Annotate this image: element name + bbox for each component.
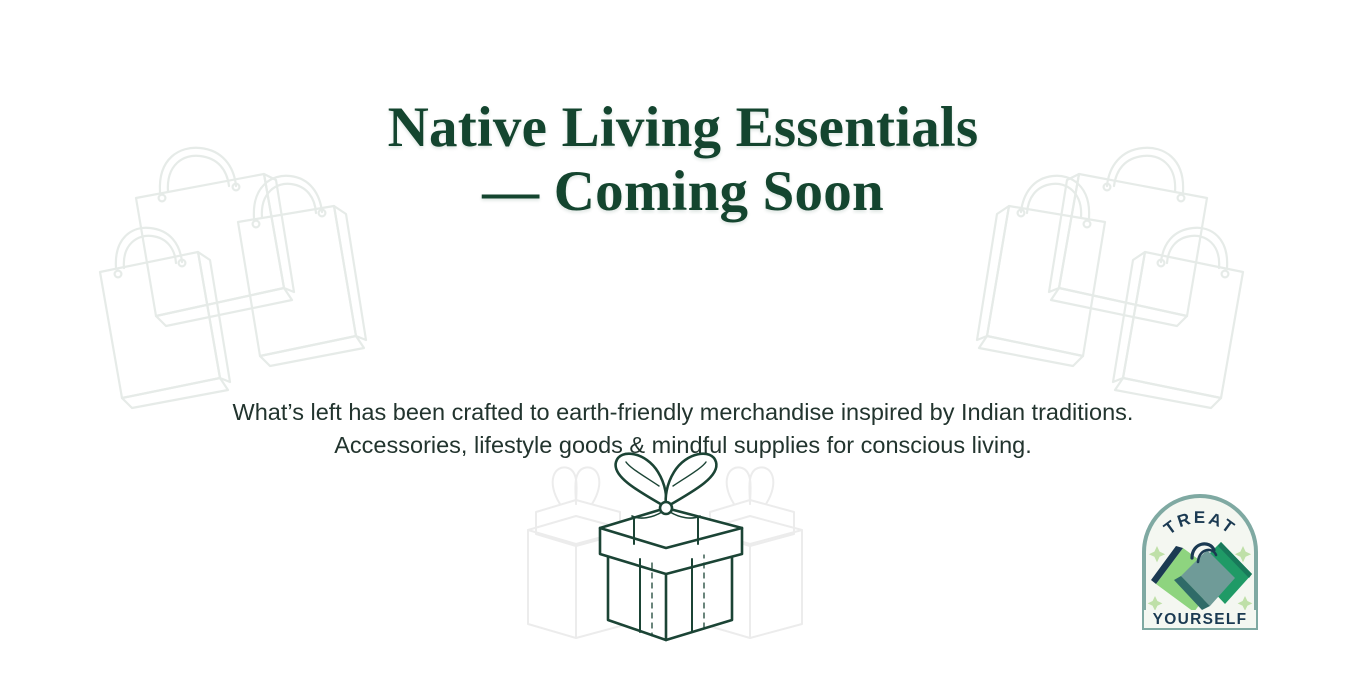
gift-box-ghost-right-icon [702, 467, 802, 638]
coming-soon-page: Native Living Essentials — Coming Soon W… [0, 0, 1366, 699]
gift-box-icon [600, 454, 742, 640]
page-description-line-1: What’s left has been crafted to earth-fr… [0, 396, 1366, 429]
bag-front-icon [1113, 228, 1243, 408]
page-description-line-2: Accessories, lifestyle goods & mindful s… [0, 429, 1366, 462]
page-description: What’s left has been crafted to earth-fr… [0, 396, 1366, 463]
gift-box-illustration [516, 442, 816, 657]
treat-yourself-badge[interactable]: TREAT YOURSELF [1135, 492, 1265, 637]
bag-front-icon [100, 228, 230, 408]
badge-bottom-text: YOURSELF [1153, 611, 1248, 628]
page-title: Native Living Essentials — Coming Soon [0, 96, 1366, 224]
page-title-line-2: — Coming Soon [0, 160, 1366, 224]
page-title-line-1: Native Living Essentials [0, 96, 1366, 160]
gift-box-ghost-left-icon [528, 467, 628, 638]
